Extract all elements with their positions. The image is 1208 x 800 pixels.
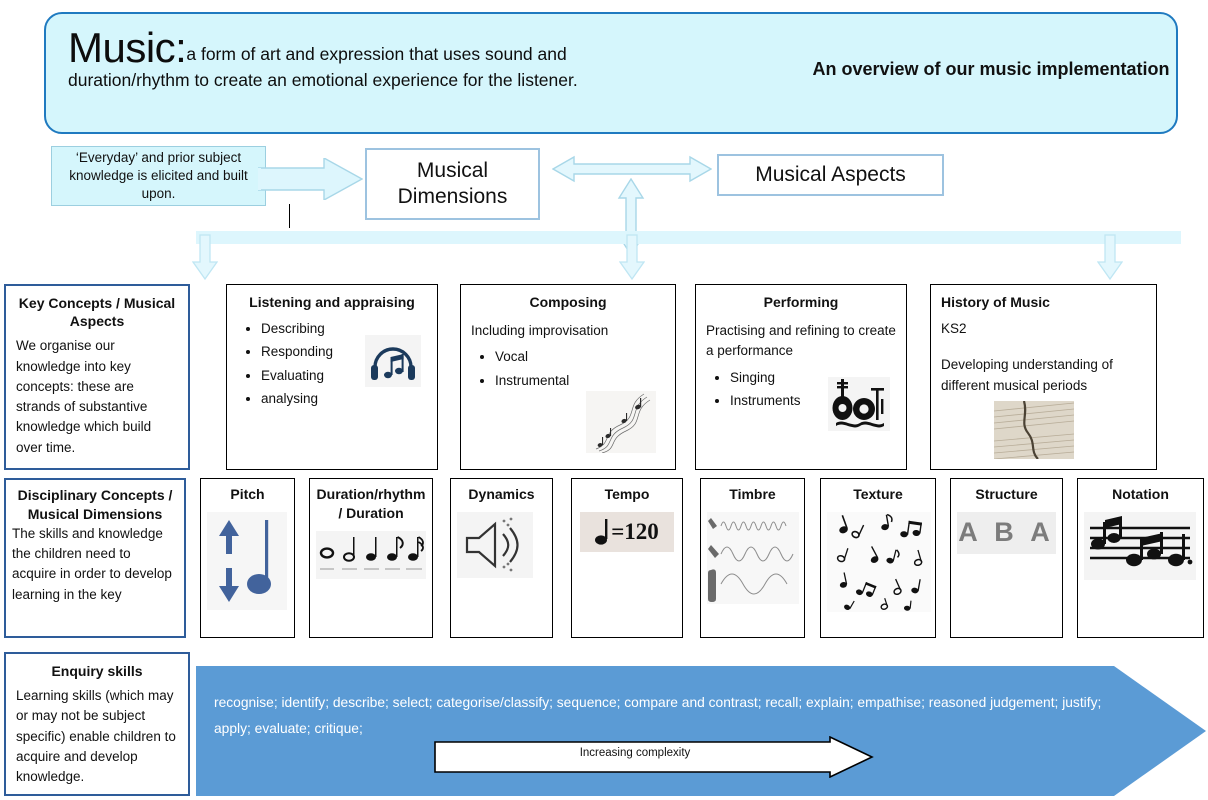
list-item: analysing <box>261 387 427 410</box>
card-enquiry-skills[interactable]: Enquiry skills Learning skills (which ma… <box>4 652 190 796</box>
note-values-icon <box>316 531 426 579</box>
card-structure[interactable]: Structure A B A <box>950 478 1063 638</box>
quarter-note-glyph <box>595 518 611 546</box>
card-duration-rhythm[interactable]: Duration/rhythm / Duration <box>309 478 433 638</box>
card-title: Performing <box>706 293 896 311</box>
tick-mark <box>289 204 290 228</box>
aba-form-icon: A B A <box>957 512 1056 554</box>
flowing-sheet-music-icon <box>586 391 656 453</box>
card-title: Notation <box>1084 485 1197 504</box>
card-body: Practising and refining to create a perf… <box>706 321 896 362</box>
arrow-right-everyday-to-dimensions <box>258 158 363 200</box>
card-title: History of Music <box>941 293 1146 311</box>
card-title: Enquiry skills <box>16 662 178 680</box>
arrow-down-left-icon <box>192 234 218 280</box>
old-manuscript-icon <box>994 401 1074 459</box>
waveforms-icon <box>707 512 799 604</box>
tempo-value: =120 <box>611 519 659 545</box>
card-title: Key Concepts / Musical Aspects <box>16 294 178 330</box>
overview-subtitle: An overview of our music implementation <box>806 56 1176 83</box>
increasing-complexity-label: Increasing complexity <box>470 747 800 759</box>
subject-title: Music: <box>68 24 186 71</box>
arrow-down-right-icon <box>1097 234 1123 280</box>
card-body: Learning skills (which may or may not be… <box>16 686 178 787</box>
card-title: Listening and appraising <box>237 293 427 311</box>
subject-definition: Music:a form of art and expression that … <box>68 28 638 93</box>
card-body: The skills and knowledge the children ne… <box>12 524 178 605</box>
card-key-concepts[interactable]: Key Concepts / Musical Aspects We organi… <box>4 284 190 470</box>
card-title: Timbre <box>707 485 798 504</box>
enquiry-skills-text: recognise; identify; describe; select; c… <box>214 690 1124 741</box>
card-composing[interactable]: Composing Including improvisation Vocal … <box>460 284 676 470</box>
card-title: Texture <box>827 485 929 504</box>
dimensions-row: Disciplinary Concepts / Musical Dimensio… <box>0 478 1208 644</box>
card-body: We organise our knowledge into key conce… <box>16 336 178 458</box>
card-body: Including improvisation <box>471 321 665 341</box>
card-title: Disciplinary Concepts / Musical Dimensio… <box>12 486 178 524</box>
headphones-music-icon <box>365 335 421 387</box>
card-body: KS2 <box>941 319 1146 339</box>
loudspeaker-icon <box>457 512 533 578</box>
card-title: Dynamics <box>457 485 546 504</box>
card-title: Structure <box>957 485 1056 504</box>
card-notation[interactable]: Notation <box>1077 478 1204 638</box>
header-banner: Music:a form of art and expression that … <box>44 12 1178 134</box>
scattered-notes-icon <box>827 512 931 612</box>
distributor-bar <box>196 231 1181 244</box>
card-title: Composing <box>471 293 665 311</box>
card-listening-and-appraising[interactable]: Listening and appraising Describing Resp… <box>226 284 438 470</box>
musical-aspects-box: Musical Aspects <box>717 154 944 196</box>
card-pitch[interactable]: Pitch <box>200 478 295 638</box>
card-history-of-music[interactable]: History of Music KS2 Developing understa… <box>930 284 1157 470</box>
card-texture[interactable]: Texture <box>820 478 936 638</box>
stave-notation-icon <box>1084 512 1196 580</box>
card-tempo[interactable]: Tempo =120 <box>571 478 683 638</box>
card-dynamics[interactable]: Dynamics <box>450 478 553 638</box>
card-title: Tempo <box>578 485 676 504</box>
list-item: Vocal <box>495 345 665 368</box>
musical-dimensions-box: Musical Dimensions <box>365 148 540 220</box>
card-performing[interactable]: Performing Practising and refining to cr… <box>695 284 907 470</box>
everyday-knowledge-box: ‘Everyday’ and prior subject knowledge i… <box>51 146 266 206</box>
card-body-secondary: Developing understanding of different mu… <box>941 355 1146 396</box>
metronome-mark-icon: =120 <box>580 512 674 552</box>
guitar-drum-instruments-icon <box>828 377 890 431</box>
arrow-down-middle-icon <box>619 234 645 280</box>
list-item: Instrumental <box>495 369 665 392</box>
card-title: Pitch <box>207 485 288 504</box>
card-title: Duration/rhythm / Duration <box>316 485 426 523</box>
bullet-list: Vocal Instrumental <box>471 345 665 391</box>
up-down-arrow-note-icon <box>207 512 287 610</box>
card-timbre[interactable]: Timbre <box>700 478 805 638</box>
card-disciplinary-concepts[interactable]: Disciplinary Concepts / Musical Dimensio… <box>4 478 186 638</box>
